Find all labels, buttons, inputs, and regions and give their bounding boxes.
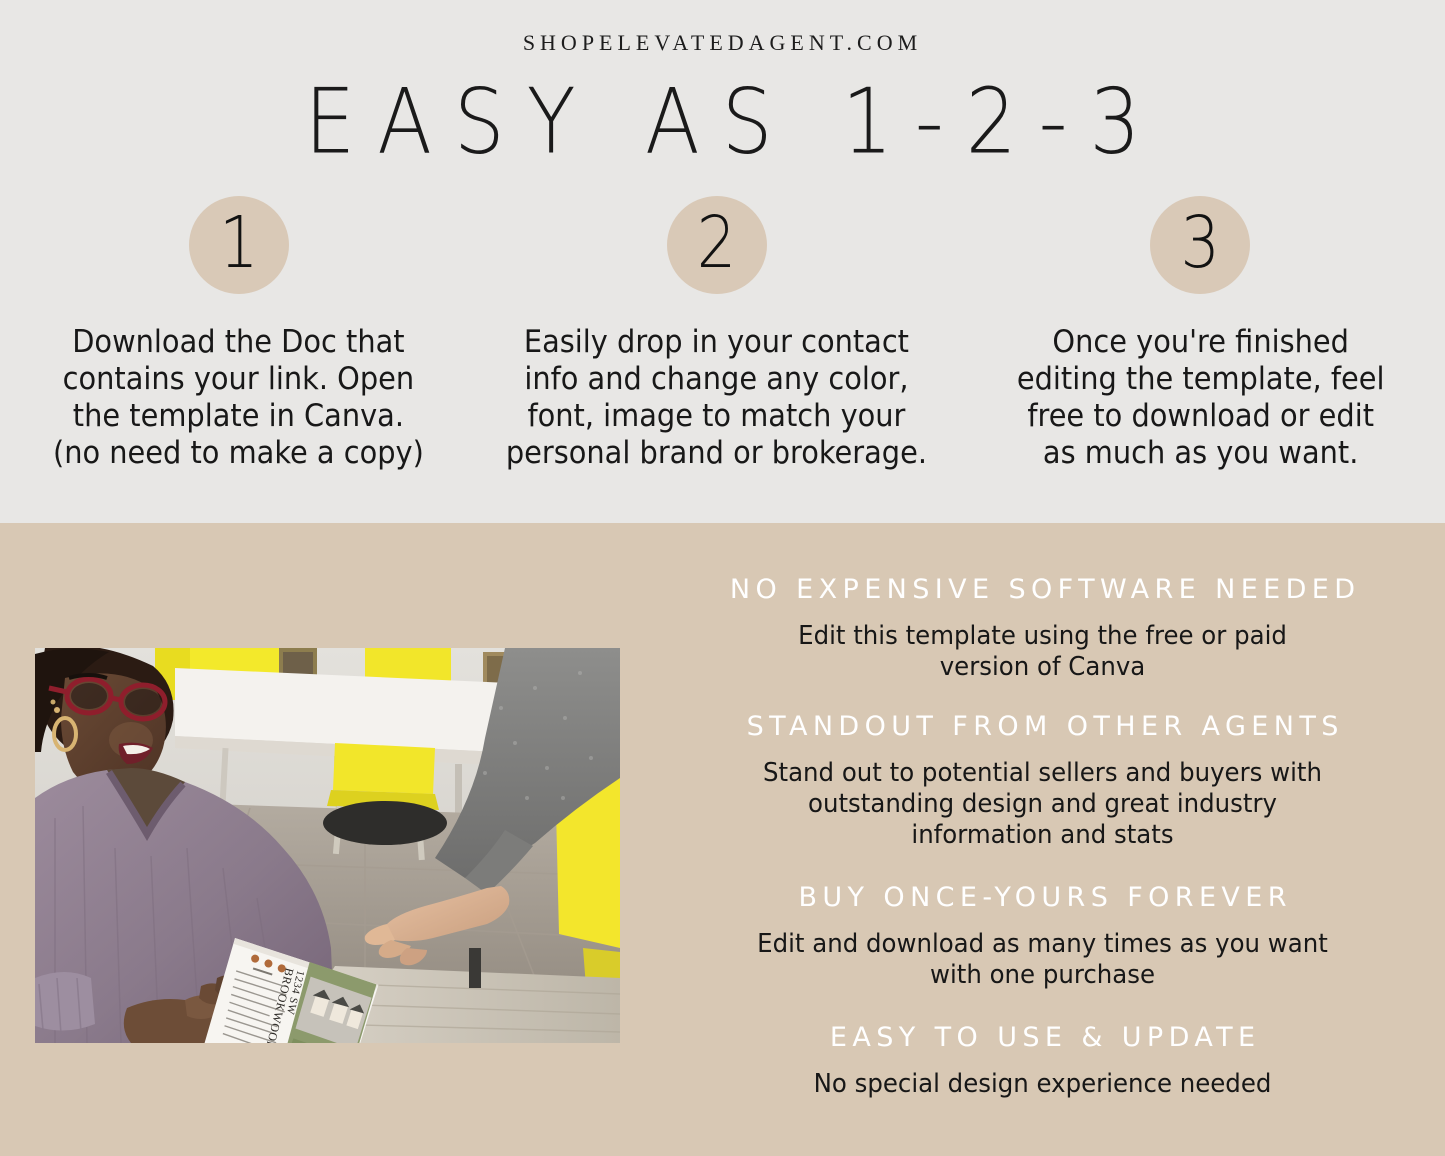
bottom-section: 1234 SW BROOKWOOD AVE [0, 523, 1445, 1156]
feature-title-2: STANDOUT FROM OTHER AGENTS [640, 710, 1445, 744]
infographic-page: SHOPELEVATEDAGENT.COM EASY AS 1-2-3 1 Do… [0, 0, 1445, 1156]
feature-title-1: NO EXPENSIVE SOFTWARE NEEDED [640, 573, 1445, 607]
feature-item-4: EASY TO USE & UPDATE No special design e… [640, 1021, 1445, 1100]
feature-item-1: NO EXPENSIVE SOFTWARE NEEDED Edit this t… [640, 573, 1445, 683]
feature-description-3: Edit and download as many times as you w… [664, 929, 1421, 991]
step-description-1: Download the Doc that contains your link… [53, 324, 424, 472]
feature-description-4: No special design experience needed [664, 1069, 1421, 1100]
step-number-label-1: 1 [219, 207, 258, 278]
step-item-1: 1 Download the Doc that contains your li… [0, 196, 478, 472]
step-description-3: Once you're finished editing the templat… [1016, 324, 1384, 472]
feature-description-1: Edit this template using the free or pai… [664, 621, 1421, 683]
step-number-badge-2: 2 [667, 196, 767, 294]
steps-row: 1 Download the Doc that contains your li… [0, 196, 1445, 472]
step-number-badge-1: 1 [189, 196, 289, 294]
step-number-badge-3: 3 [1150, 196, 1250, 294]
step-item-2: 2 Easily drop in your contact info and c… [478, 196, 956, 472]
feature-item-3: BUY ONCE-YOURS FOREVER Edit and download… [640, 881, 1445, 991]
feature-title-3: BUY ONCE-YOURS FOREVER [640, 881, 1445, 915]
step-number-label-2: 2 [697, 207, 736, 278]
feature-list: NO EXPENSIVE SOFTWARE NEEDED Edit this t… [640, 573, 1445, 1100]
step-description-2: Easily drop in your contact info and cha… [506, 324, 927, 472]
step-item-3: 3 Once you're finished editing the templ… [955, 196, 1445, 472]
site-url-label: SHOPELEVATEDAGENT.COM [0, 30, 1445, 56]
feature-item-2: STANDOUT FROM OTHER AGENTS Stand out to … [640, 710, 1445, 851]
feature-description-2: Stand out to potential sellers and buyer… [664, 758, 1421, 851]
agent-handing-flyer-photo: 1234 SW BROOKWOOD AVE [35, 648, 620, 1043]
top-section: SHOPELEVATEDAGENT.COM EASY AS 1-2-3 1 Do… [0, 0, 1445, 523]
page-title: EASY AS 1-2-3 [0, 74, 1445, 170]
feature-title-4: EASY TO USE & UPDATE [640, 1021, 1445, 1055]
step-number-label-3: 3 [1180, 207, 1219, 278]
